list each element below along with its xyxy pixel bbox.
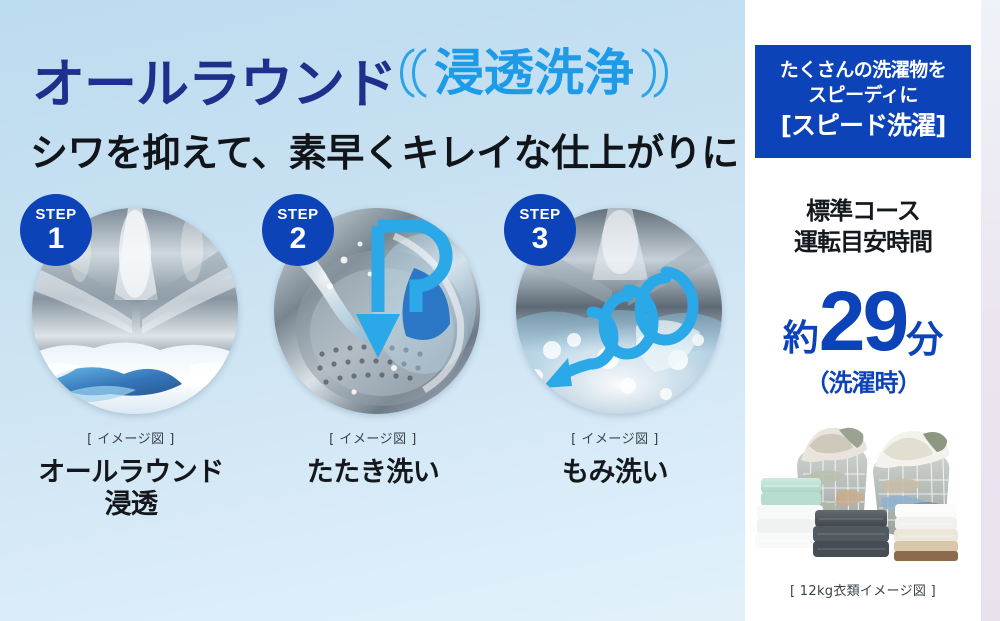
accent-title-group: 浸透洗浄 (400, 46, 668, 100)
step-2-badge-number: 2 (290, 224, 307, 254)
step-1-badge-word: STEP (35, 207, 76, 222)
time-unit: 分 (906, 322, 943, 357)
step-3-badge-word: STEP (519, 207, 560, 222)
step-3-badge: STEP 3 (504, 194, 576, 266)
course-name: 標準コース (745, 196, 981, 227)
time-value-row: 約 29 分 (745, 282, 981, 362)
left-content-column: オールラウンド 浸透洗浄 シワを抑えて、素早くキレイな仕上がりに (0, 0, 745, 621)
accent-title: 浸透洗浄 (430, 48, 638, 98)
step-2-note: [ イメージ図 ] (329, 428, 417, 447)
panel-header-line2: スピーディに (761, 83, 965, 108)
step-item-3: STEP 3 [ イメージ図 ] もみ洗い (502, 200, 728, 522)
time-condition: （洗濯時） (745, 363, 981, 398)
speed-wash-panel: たくさんの洗濯物を スピーディに [スピード洗濯] 標準コース 運転目安時間 約… (745, 0, 981, 621)
page-subtitle: シワを抑えて、素早くキレイな仕上がりに (30, 122, 739, 177)
panel-header-line1: たくさんの洗濯物を (761, 58, 965, 83)
step-2-label-line1: たたき洗い (307, 457, 440, 489)
panel-header-line3: [スピード洗濯] (761, 110, 965, 143)
step-3-badge-number: 3 (532, 224, 549, 254)
panel-right-edge-strip (981, 0, 1000, 621)
step-1-label-line2: 浸透 (38, 489, 224, 521)
step-3-photo-wrap: STEP 3 (508, 200, 722, 414)
step-item-1: STEP 1 [ イメージ図 ] オールラウンド 浸透 (18, 200, 244, 522)
course-info: 標準コース 運転目安時間 (745, 196, 981, 257)
step-1-badge: STEP 1 (20, 194, 92, 266)
step-2-photo-wrap: STEP 2 (266, 200, 480, 414)
step-3-note: [ イメージ図 ] (571, 428, 659, 447)
time-number: 29 (819, 282, 906, 362)
step-1-badge-number: 1 (48, 224, 65, 254)
headline-row: オールラウンド 浸透洗浄 (32, 48, 668, 111)
page-title: オールラウンド (32, 58, 396, 111)
course-time-label: 運転目安時間 (745, 227, 981, 258)
step-2-badge-word: STEP (277, 207, 318, 222)
step-1-label-line1: オールラウンド (38, 457, 224, 489)
step-1-photo-wrap: STEP 1 (24, 200, 238, 414)
laundry-photo (753, 400, 973, 570)
promo-banner: オールラウンド 浸透洗浄 シワを抑えて、素早くキレイな仕上がりに (0, 0, 1000, 621)
step-1-note: [ イメージ図 ] (87, 428, 175, 447)
step-2-badge: STEP 2 (262, 194, 334, 266)
step-2-label: たたき洗い (307, 457, 440, 489)
step-1-label: オールラウンド 浸透 (38, 457, 224, 522)
panel-header-banner: たくさんの洗濯物を スピーディに [スピード洗濯] (755, 45, 971, 158)
time-approx-prefix: 約 (783, 322, 819, 356)
arc-right-decor-icon (638, 46, 668, 100)
steps-list: STEP 1 [ イメージ図 ] オールラウンド 浸透 (18, 200, 728, 522)
step-item-2: STEP 2 [ イメージ図 ] たたき洗い (260, 200, 486, 522)
step-3-label: もみ洗い (562, 457, 668, 489)
arc-left-decor-icon (400, 46, 430, 100)
step-3-label-line1: もみ洗い (562, 457, 668, 489)
laundry-photo-note: [ 12kg衣類イメージ図 ] (745, 580, 981, 599)
